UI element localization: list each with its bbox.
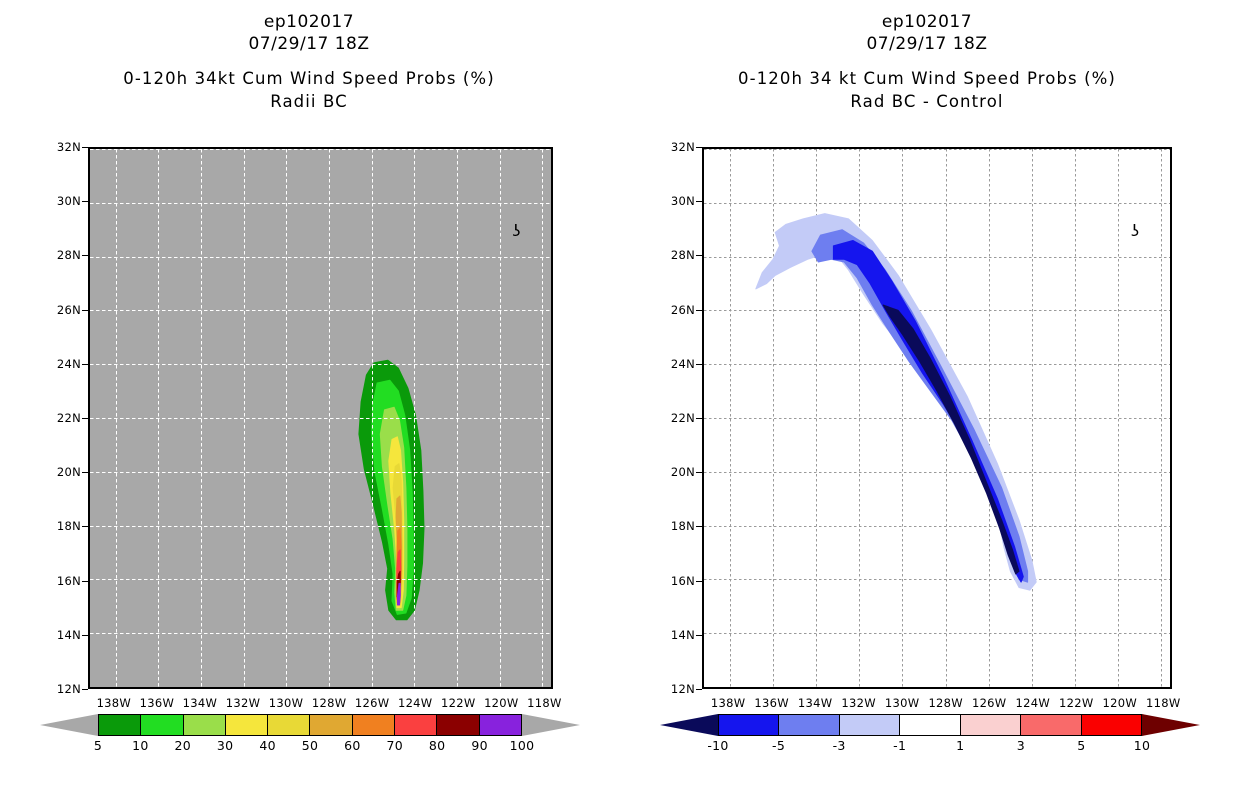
colorbar-tick-label: 5 (1077, 738, 1085, 753)
y-axis-tick-label: 22N (57, 411, 88, 425)
right-contour-layer (704, 149, 1170, 687)
left-plot-title: 0-120h 34kt Cum Wind Speed Probs (%) (0, 67, 618, 91)
x-axis-tick-label: 118W (527, 689, 562, 710)
x-axis-tick-label: 126W (355, 689, 390, 710)
y-axis-tick-label: 30N (57, 194, 88, 208)
right-storm-id: ep102017 (618, 12, 1236, 33)
colorbar-tick-label: -5 (772, 738, 785, 753)
colorbar-segment-4 (961, 715, 1021, 735)
left-datetime: 07/29/17 18Z (0, 33, 618, 55)
colorbar-segment-3 (226, 715, 268, 735)
storm-symbol-icon: ʖ (512, 223, 520, 239)
x-axis-tick-label: 128W (312, 689, 347, 710)
colorbar-segment-6 (353, 715, 395, 735)
x-axis-tick-label: 122W (441, 689, 476, 710)
colorbar-segment-0 (719, 715, 779, 735)
right-title-block: ep102017 07/29/17 18Z 0-120h 34 kt Cum W… (618, 0, 1236, 113)
y-axis-tick-label: 32N (57, 140, 88, 154)
y-axis-tick-label: 14N (57, 628, 88, 642)
y-axis-tick-label: 18N (57, 519, 88, 533)
colorbar-segment-3 (900, 715, 960, 735)
colorbar-tick-label: 100 (510, 738, 535, 753)
right-colorbar-body (718, 714, 1142, 736)
colorbar-tick-label: -3 (833, 738, 846, 753)
colorbar-tick-label: 5 (94, 738, 102, 753)
right-colorbar-arrow-low (660, 714, 718, 736)
y-axis-tick-label: 12N (57, 682, 88, 696)
y-axis-tick-label: 24N (57, 357, 88, 371)
colorbar-segment-8 (437, 715, 479, 735)
x-axis-tick-label: 134W (183, 689, 218, 710)
right-colorbar: -10-5-3-113510 (660, 714, 1200, 760)
x-axis-tick-label: 136W (140, 689, 175, 710)
left-contour-layer (90, 149, 551, 687)
left-colorbar-arrow-high (522, 714, 580, 736)
colorbar-segment-4 (268, 715, 310, 735)
colorbar-tick-label: 60 (344, 738, 361, 753)
colorbar-tick-label: -10 (707, 738, 728, 753)
colorbar-tick-label: 50 (302, 738, 319, 753)
colorbar-tick-label: 40 (259, 738, 276, 753)
x-axis-tick-label: 124W (398, 689, 433, 710)
wind-speed-probability-figure: ep102017 07/29/17 18Z 0-120h 34kt Cum Wi… (0, 0, 1236, 800)
left-colorbar-body (98, 714, 522, 736)
left-colorbar-ticks: 5102030405060708090100 (40, 736, 580, 756)
colorbar-tick-label: 70 (387, 738, 404, 753)
colorbar-segment-5 (1021, 715, 1081, 735)
colorbar-segment-9 (480, 715, 521, 735)
panel-radii-bc: ep102017 07/29/17 18Z 0-120h 34kt Cum Wi… (0, 0, 618, 800)
right-colorbar-ticks: -10-5-3-113510 (660, 736, 1200, 756)
colorbar-segment-1 (779, 715, 839, 735)
colorbar-tick-label: 10 (132, 738, 149, 753)
gridline-horizontal (704, 687, 1170, 688)
colorbar-tick-label: 80 (429, 738, 446, 753)
right-datetime: 07/29/17 18Z (618, 33, 1236, 55)
colorbar-segment-7 (395, 715, 437, 735)
colorbar-segment-6 (1082, 715, 1141, 735)
y-axis-tick-label: 28N (57, 248, 88, 262)
right-plot-title: 0-120h 34 kt Cum Wind Speed Probs (%) (618, 67, 1236, 91)
x-axis-tick-label: 138W (97, 689, 132, 710)
right-map-plot: ʖ (702, 147, 1172, 689)
colorbar-tick-label: 20 (175, 738, 192, 753)
colorbar-tick-label: 30 (217, 738, 234, 753)
right-colorbar-arrow-high (1142, 714, 1200, 736)
colorbar-segment-1 (141, 715, 183, 735)
colorbar-segment-5 (310, 715, 352, 735)
y-axis-tick-label: 16N (57, 574, 88, 588)
x-axis-tick-label: 130W (269, 689, 304, 710)
y-axis-tick-label: 20N (57, 465, 88, 479)
left-colorbar-arrow-low (40, 714, 98, 736)
contour-region--3 (812, 230, 1028, 582)
left-colorbar: 5102030405060708090100 (40, 714, 580, 760)
left-title-block: ep102017 07/29/17 18Z 0-120h 34kt Cum Wi… (0, 0, 618, 113)
colorbar-tick-label: 1 (956, 738, 964, 753)
left-map-plot: ʖ (88, 147, 553, 689)
left-storm-id: ep102017 (0, 12, 618, 33)
contour-region--1 (756, 214, 1036, 591)
right-plot-subtitle: Rad BC - Control (618, 91, 1236, 113)
left-plot-subtitle: Radii BC (0, 91, 618, 113)
y-axis-tick-label: 26N (57, 303, 88, 317)
colorbar-tick-label: 3 (1017, 738, 1025, 753)
storm-symbol-icon: ʖ (1131, 223, 1139, 239)
colorbar-segment-2 (840, 715, 900, 735)
gridline-horizontal (90, 687, 551, 688)
x-axis-tick-label: 120W (484, 689, 519, 710)
x-axis-tick-label: 132W (226, 689, 261, 710)
colorbar-tick-label: -1 (893, 738, 906, 753)
colorbar-tick-label: 90 (471, 738, 488, 753)
colorbar-segment-2 (184, 715, 226, 735)
colorbar-segment-0 (99, 715, 141, 735)
colorbar-tick-label: 10 (1134, 738, 1151, 753)
